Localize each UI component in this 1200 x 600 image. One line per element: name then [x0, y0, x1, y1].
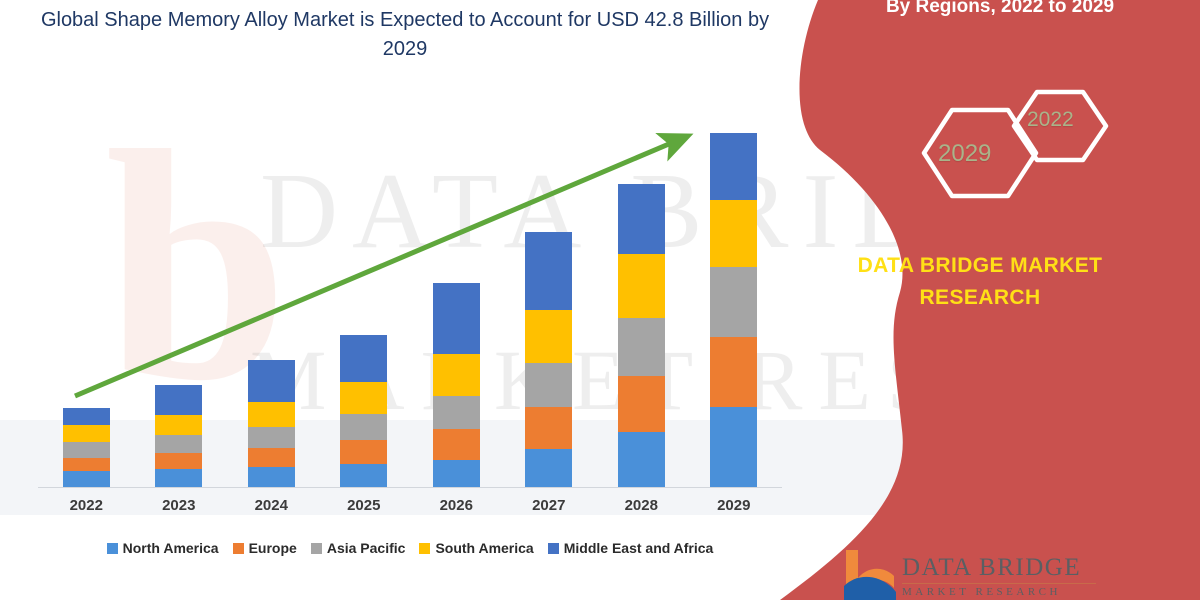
- x-axis-tick-label: 2022: [41, 497, 131, 514]
- bridge-logo-icon: [838, 548, 898, 600]
- x-axis-tick-label: 2027: [504, 497, 594, 514]
- bar-segment: [63, 425, 110, 442]
- bar-segment: [155, 435, 202, 453]
- legend-label: Europe: [249, 540, 297, 556]
- bar-segment: [248, 360, 295, 402]
- bar-segment: [155, 469, 202, 487]
- bar-segment: [433, 396, 480, 429]
- x-axis-tick-label: 2026: [411, 497, 501, 514]
- bar-segment: [248, 402, 295, 427]
- bar-segment: [63, 442, 110, 458]
- stacked-bar: [433, 283, 480, 487]
- footer-logo: DATA BRIDGE MARKET RESEARCH: [838, 548, 1158, 600]
- footer-logo-rule: [902, 583, 1096, 584]
- bar-segment: [340, 382, 387, 414]
- bar-segment: [433, 429, 480, 460]
- legend-swatch-icon: [107, 543, 118, 554]
- bar-segment: [248, 427, 295, 448]
- bar-segment: [63, 408, 110, 425]
- hexagon-label-2022: 2022: [1027, 108, 1074, 132]
- bar-column: [411, 110, 501, 487]
- hexagon-label-2029: 2029: [938, 140, 991, 168]
- bar-segment: [340, 440, 387, 464]
- stacked-bar: [248, 360, 295, 487]
- legend-item[interactable]: South America: [419, 540, 533, 556]
- x-axis-line: [38, 487, 782, 488]
- bar-group: [40, 110, 780, 487]
- bar-segment: [525, 232, 572, 310]
- bar-column: [596, 110, 686, 487]
- legend-item[interactable]: Asia Pacific: [311, 540, 406, 556]
- bar-segment: [710, 407, 757, 487]
- brand-line-2: RESEARCH: [780, 282, 1180, 314]
- legend-swatch-icon: [311, 543, 322, 554]
- x-axis-tick-label: 2023: [134, 497, 224, 514]
- chart-legend: North AmericaEuropeAsia PacificSouth Ame…: [40, 540, 780, 556]
- bar-column: [226, 110, 316, 487]
- bar-segment: [710, 200, 757, 267]
- legend-label: Asia Pacific: [327, 540, 406, 556]
- page-title: Global Shape Memory Alloy Market is Expe…: [40, 6, 770, 64]
- x-axis-tick-label: 2024: [226, 497, 316, 514]
- bar-segment: [618, 184, 665, 254]
- bar-segment: [433, 283, 480, 354]
- legend-label: South America: [435, 540, 533, 556]
- bar-segment: [155, 385, 202, 415]
- stacked-bar: [710, 133, 757, 487]
- legend-label: Middle East and Africa: [564, 540, 714, 556]
- stacked-bar: [340, 335, 387, 487]
- legend-item[interactable]: Middle East and Africa: [548, 540, 714, 556]
- x-axis-labels: 20222023202420252026202720282029: [40, 497, 780, 514]
- bar-column: [504, 110, 594, 487]
- stacked-bar: [155, 385, 202, 487]
- stacked-bar: [618, 184, 665, 487]
- bar-segment: [155, 415, 202, 435]
- bar-segment: [618, 376, 665, 432]
- legend-label: North America: [123, 540, 219, 556]
- bar-segment: [340, 414, 387, 440]
- bar-segment: [248, 467, 295, 487]
- brand-line-1: DATA BRIDGE MARKET: [780, 250, 1180, 282]
- stacked-bar: [525, 232, 572, 487]
- x-axis-tick-label: 2028: [596, 497, 686, 514]
- bar-segment: [710, 267, 757, 337]
- bar-column: [41, 110, 131, 487]
- bar-segment: [525, 363, 572, 407]
- bar-segment: [63, 471, 110, 487]
- right-brand-panel: By Regions, 2022 to 2029 2029 2022 DATA …: [760, 0, 1200, 600]
- infographic-root: b DATA BRIDGE MARKET RESEARCH Global Sha…: [0, 0, 1200, 600]
- bar-segment: [618, 432, 665, 487]
- bar-segment: [433, 460, 480, 487]
- legend-swatch-icon: [419, 543, 430, 554]
- legend-item[interactable]: Europe: [233, 540, 297, 556]
- bar-column: [319, 110, 409, 487]
- bar-segment: [433, 354, 480, 396]
- bar-segment: [525, 449, 572, 487]
- brand-name: DATA BRIDGE MARKET RESEARCH: [780, 250, 1180, 314]
- bar-segment: [248, 448, 295, 467]
- bar-segment: [340, 464, 387, 487]
- bar-column: [134, 110, 224, 487]
- hexagon-badges: 2029 2022: [910, 88, 1170, 218]
- bar-segment: [710, 337, 757, 407]
- legend-item[interactable]: North America: [107, 540, 219, 556]
- bar-segment: [618, 318, 665, 376]
- legend-swatch-icon: [548, 543, 559, 554]
- footer-logo-subtext: MARKET RESEARCH: [902, 586, 1061, 598]
- bar-segment: [618, 254, 665, 318]
- bar-segment: [525, 407, 572, 449]
- bar-segment: [710, 133, 757, 200]
- panel-subtitle: By Regions, 2022 to 2029: [800, 0, 1200, 20]
- stacked-bar-chart: 20222023202420252026202720282029 North A…: [0, 0, 820, 600]
- bar-segment: [340, 335, 387, 382]
- x-axis-tick-label: 2025: [319, 497, 409, 514]
- footer-logo-text: DATA BRIDGE: [902, 554, 1081, 582]
- legend-swatch-icon: [233, 543, 244, 554]
- bar-segment: [155, 453, 202, 469]
- stacked-bar: [63, 408, 110, 487]
- bar-segment: [525, 310, 572, 363]
- bar-segment: [63, 458, 110, 471]
